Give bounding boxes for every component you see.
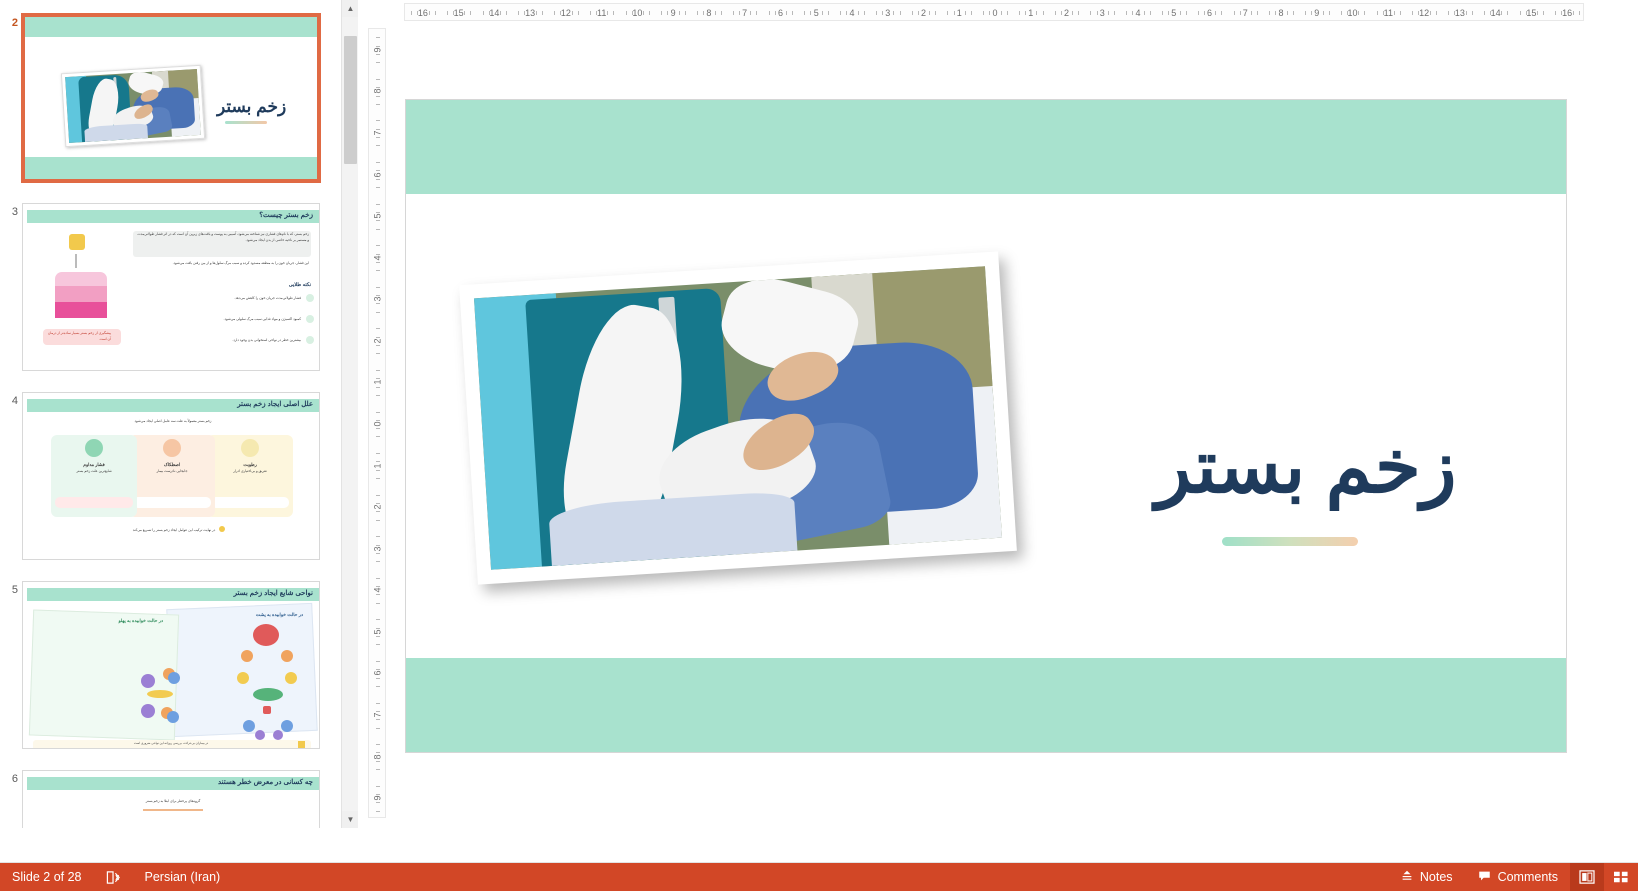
ruler-minor-tick	[1257, 11, 1258, 15]
status-bar: Slide 2 of 28 Persian (Iran)	[0, 863, 1638, 891]
ruler-tick-label: 12	[561, 4, 571, 21]
ruler-minor-tick	[1537, 11, 1538, 15]
ruler-minor-tick	[893, 11, 894, 15]
ruler-minor-tick	[876, 11, 877, 15]
mini-title-text: نواحی شایع ایجاد زخم بستر	[234, 589, 313, 597]
check-icon	[306, 315, 314, 323]
ruler-minor-tick	[989, 11, 990, 15]
ruler-minor-tick	[376, 229, 380, 230]
ruler-minor-tick	[376, 661, 380, 662]
ruler-minor-tick	[542, 11, 543, 15]
ruler-minor-tick	[810, 11, 811, 15]
current-slide-canvas[interactable]: زخم بستر	[406, 100, 1566, 752]
ruler-minor-tick	[792, 11, 793, 15]
ruler-minor-tick	[1400, 11, 1401, 15]
ruler-minor-tick	[578, 11, 579, 15]
ruler-minor-tick	[429, 11, 430, 15]
ruler-minor-tick	[376, 711, 380, 712]
ruler-minor-tick	[376, 129, 380, 130]
ruler-minor-tick	[376, 353, 380, 354]
scroll-up-arrow-icon[interactable]: ▲	[342, 0, 359, 17]
ruler-minor-tick	[376, 511, 380, 512]
mini-title-text: علل اصلی ایجاد زخم بستر	[237, 400, 313, 408]
ruler-tick-label: 1	[1028, 4, 1033, 21]
ruler-minor-tick	[965, 11, 966, 15]
ruler-minor-tick	[376, 728, 380, 729]
ruler-minor-tick	[756, 11, 757, 15]
ruler-minor-tick	[900, 11, 901, 15]
ruler-minor-tick	[1275, 11, 1276, 15]
ruler-minor-tick	[518, 11, 519, 15]
ruler-minor-tick	[864, 11, 865, 15]
ruler-minor-tick	[929, 11, 930, 15]
ruler-minor-tick	[1418, 11, 1419, 15]
ruler-minor-tick	[1090, 11, 1091, 15]
ruler-minor-tick	[721, 11, 722, 15]
thumbnail-number-4: 4	[0, 392, 22, 408]
mini-title-text: زخم بستر چیست؟	[259, 211, 313, 219]
ruler-minor-tick	[500, 11, 501, 15]
ruler-minor-tick	[1132, 11, 1133, 15]
ruler-minor-tick	[376, 578, 380, 579]
ruler-minor-tick	[769, 11, 770, 15]
ruler-minor-tick	[846, 11, 847, 15]
thumbnail-canvas-2[interactable]: زخم بستر	[22, 14, 320, 182]
notes-label: Notes	[1420, 870, 1453, 884]
ruler-minor-tick	[376, 395, 380, 396]
ruler-minor-tick	[1448, 11, 1449, 15]
ruler-minor-tick	[376, 686, 380, 687]
ruler-minor-tick	[1490, 11, 1491, 15]
ruler-minor-tick	[376, 752, 380, 753]
ruler-minor-tick	[1555, 11, 1556, 15]
ruler-tick-label: 5	[1171, 4, 1176, 21]
ruler-minor-tick	[1364, 11, 1365, 15]
notes-icon	[1400, 869, 1414, 886]
ruler-minor-tick	[376, 412, 380, 413]
slide-title-underline	[1222, 537, 1358, 546]
ruler-tick-label: 14	[489, 4, 499, 21]
ruler-minor-tick	[590, 11, 591, 15]
ruler-tick-label: 7	[1243, 4, 1248, 21]
mini-card-icon	[241, 439, 259, 457]
thumbnail-canvas-3[interactable]: زخم بستر چیست؟ زخم بستر، که با نام‌های ف…	[22, 203, 320, 371]
ruler-tick-label: 2	[1064, 4, 1069, 21]
ruler-minor-tick	[649, 11, 650, 15]
ruler-minor-tick	[376, 545, 380, 546]
ruler-minor-tick	[376, 669, 380, 670]
ruler-minor-tick	[376, 769, 380, 770]
ruler-minor-tick	[1323, 11, 1324, 15]
ruler-minor-tick	[1097, 11, 1098, 15]
ruler-minor-tick	[1543, 11, 1544, 15]
mini-title-text: چه کسانی در معرض خطر هستند	[218, 778, 313, 786]
ruler-minor-tick	[470, 11, 471, 15]
mini-band-top	[25, 17, 317, 37]
scroll-down-arrow-icon[interactable]: ▼	[342, 811, 359, 828]
thumbnail-number-3: 3	[0, 203, 22, 219]
ruler-minor-tick	[376, 312, 380, 313]
ruler-minor-tick	[376, 220, 380, 221]
thumbnail-slide-4[interactable]: 4 علل اصلی ایجاد زخم بستر زخم بستر معمول…	[0, 392, 340, 560]
ruler-minor-tick	[376, 553, 380, 554]
ruler-minor-tick	[1579, 11, 1580, 15]
ruler-minor-tick	[1240, 11, 1241, 15]
ruler-minor-tick	[912, 11, 913, 15]
thumbnail-scrollbar[interactable]: ▲ ▼	[341, 0, 358, 828]
ruler-minor-tick	[376, 295, 380, 296]
ruler-minor-tick	[596, 11, 597, 15]
ruler-minor-tick	[524, 11, 525, 15]
ruler-minor-tick	[667, 11, 668, 15]
ruler-tick-label: 1	[957, 4, 962, 21]
ruler-minor-tick	[1180, 11, 1181, 15]
ruler-tick-label: 2	[921, 4, 926, 21]
ruler-minor-tick	[804, 11, 805, 15]
ruler-minor-tick	[1168, 11, 1169, 15]
ruler-tick-label: 5	[814, 4, 819, 21]
ruler-minor-tick	[376, 478, 380, 479]
ruler-minor-tick	[376, 62, 380, 63]
ruler-minor-tick	[453, 11, 454, 15]
ruler-minor-tick	[560, 11, 561, 15]
ruler-tick-label: 14	[1491, 4, 1501, 21]
ruler-minor-tick	[376, 270, 380, 271]
ruler-minor-tick	[715, 11, 716, 15]
ruler-tick-label: 11	[1384, 4, 1393, 21]
ruler-minor-tick	[376, 619, 380, 620]
ruler-minor-tick	[1198, 11, 1199, 15]
photo-artwork	[474, 266, 1002, 570]
ruler-minor-tick	[1001, 11, 1002, 15]
ruler-tick-label: 12	[1419, 4, 1429, 21]
ruler-minor-tick	[376, 170, 380, 171]
ruler-minor-tick	[483, 11, 484, 15]
ruler-minor-tick	[1072, 11, 1073, 15]
slide-sorter-view-button[interactable]	[1604, 863, 1638, 891]
ruler-minor-tick	[376, 328, 380, 329]
ruler-tick-label: 8	[706, 4, 711, 21]
ruler-minor-tick	[607, 11, 608, 15]
ruler-minor-tick	[376, 212, 380, 213]
ruler-minor-tick	[536, 11, 537, 15]
ruler-minor-tick	[376, 179, 380, 180]
ruler-minor-tick	[376, 794, 380, 795]
thumbnail-number-5: 5	[0, 581, 22, 597]
ruler-minor-tick	[632, 11, 633, 15]
accessibility-checker-icon[interactable]	[94, 863, 133, 891]
star-icon	[219, 526, 225, 532]
ruler-minor-tick	[971, 11, 972, 15]
ruler-tick-label: 3	[885, 4, 890, 21]
ruler-minor-tick	[828, 11, 829, 15]
check-icon	[306, 294, 314, 302]
warning-icon	[298, 741, 305, 748]
ruler-tick-label: 15	[454, 4, 464, 21]
ruler-minor-tick	[858, 11, 859, 15]
ruler-minor-tick	[376, 495, 380, 496]
ruler-minor-tick	[376, 204, 380, 205]
ruler-minor-tick	[1234, 11, 1235, 15]
ruler-minor-tick	[822, 11, 823, 15]
ruler-tick-label: 8	[1279, 4, 1284, 21]
ruler-minor-tick	[643, 11, 644, 15]
ruler-minor-tick	[376, 628, 380, 629]
ruler-minor-tick	[1287, 11, 1288, 15]
ruler-tick-label: 0	[992, 4, 997, 21]
ruler-minor-tick	[983, 11, 984, 15]
ruler-minor-tick	[1293, 11, 1294, 15]
mini-card-icon	[163, 439, 181, 457]
ruler-minor-tick	[411, 11, 412, 15]
scrollbar-thumb[interactable]	[344, 36, 357, 164]
powerpoint-window: 2	[0, 0, 1638, 891]
ruler-minor-tick	[840, 11, 841, 15]
ruler-minor-tick	[918, 11, 919, 15]
ruler-minor-tick	[506, 11, 507, 15]
mini-section-label: نکته طلایی	[289, 282, 311, 288]
ruler-minor-tick	[376, 37, 380, 38]
ruler-minor-tick	[376, 137, 380, 138]
ruler-minor-tick	[376, 761, 380, 762]
ruler-minor-tick	[1221, 11, 1222, 15]
ruler-minor-tick	[1019, 11, 1020, 15]
ruler-tick-label: 4	[1136, 4, 1141, 21]
ruler-minor-tick	[1501, 11, 1502, 15]
ruler-minor-tick	[376, 520, 380, 521]
mini-slide-2: زخم بستر	[25, 17, 317, 179]
ruler-minor-tick	[376, 703, 380, 704]
thumbnail-slide-5[interactable]: 5 نواحی شایع ایجاد زخم بستر در حالت خواب…	[0, 581, 340, 749]
ruler-minor-tick	[376, 428, 380, 429]
ruler-minor-tick	[882, 11, 883, 15]
ruler-minor-tick	[1430, 11, 1431, 15]
ruler-minor-tick	[750, 11, 751, 15]
ruler-minor-tick	[376, 420, 380, 421]
thumbnail-canvas-5[interactable]: نواحی شایع ایجاد زخم بستر در حالت خوابید…	[22, 581, 320, 749]
mini-photo	[61, 65, 205, 147]
ruler-minor-tick	[376, 453, 380, 454]
ruler-minor-tick	[1108, 11, 1109, 15]
ruler-minor-tick	[376, 370, 380, 371]
ruler-minor-tick	[739, 11, 740, 15]
comment-icon	[1477, 869, 1492, 886]
ruler-minor-tick	[376, 586, 380, 587]
ruler-minor-tick	[1055, 11, 1056, 15]
ruler-minor-tick	[1507, 11, 1508, 15]
ruler-minor-tick	[1204, 11, 1205, 15]
slide-thumbnail-panel[interactable]: 2	[0, 0, 340, 828]
ruler-minor-tick	[376, 54, 380, 55]
thumbnail-number-6: 6	[0, 770, 22, 786]
mini-card-icon	[85, 439, 103, 457]
mini-band-bottom	[25, 157, 317, 179]
alert-icon	[69, 234, 85, 250]
ruler-minor-tick	[1150, 11, 1151, 15]
notes-button[interactable]: Notes	[1388, 863, 1465, 891]
ruler-minor-tick	[376, 104, 380, 105]
ruler-minor-tick	[685, 11, 686, 15]
ruler-minor-tick	[1078, 11, 1079, 15]
ruler-minor-tick	[489, 11, 490, 15]
ruler-minor-tick	[1329, 11, 1330, 15]
ruler-minor-tick	[1341, 11, 1342, 15]
ruler-minor-tick	[1573, 11, 1574, 15]
ruler-minor-tick	[1251, 11, 1252, 15]
ruler-minor-tick	[376, 644, 380, 645]
ruler-minor-tick	[626, 11, 627, 15]
slide-band-bottom	[406, 658, 1566, 752]
thumbnail-slide-2[interactable]: 2	[0, 14, 340, 182]
ruler-minor-tick	[376, 120, 380, 121]
ruler-tick-label: 4	[849, 4, 854, 21]
ruler-minor-tick	[376, 378, 380, 379]
ruler-minor-tick	[376, 503, 380, 504]
ruler-minor-tick	[376, 79, 380, 80]
thumbnail-number-2: 2	[0, 14, 22, 30]
ruler-minor-tick	[1126, 11, 1127, 15]
ruler-minor-tick	[786, 11, 787, 15]
ruler-minor-tick	[1269, 11, 1270, 15]
ruler-minor-tick	[572, 11, 573, 15]
ruler-tick-label: 7	[742, 4, 747, 21]
ruler-minor-tick	[376, 811, 380, 812]
ruler-tick-label: 6	[778, 4, 783, 21]
slide-photo[interactable]	[459, 251, 1017, 584]
ruler-minor-tick	[376, 678, 380, 679]
ruler-minor-tick	[376, 245, 380, 246]
ruler-minor-tick	[1358, 11, 1359, 15]
slide-title-text[interactable]: زخم بستر	[1106, 430, 1506, 504]
ruler-minor-tick	[703, 11, 704, 15]
thumbnail-canvas-4[interactable]: علل اصلی ایجاد زخم بستر زخم بستر معمولاً…	[22, 392, 320, 560]
ruler-minor-tick	[1436, 11, 1437, 15]
ruler-minor-tick	[1025, 11, 1026, 15]
ruler-minor-tick	[1561, 11, 1562, 15]
ruler-minor-tick	[1144, 11, 1145, 15]
ruler-minor-tick	[376, 594, 380, 595]
ruler-minor-tick	[1311, 11, 1312, 15]
ruler-minor-tick	[376, 461, 380, 462]
thumbnail-canvas-6[interactable]: چه کسانی در معرض خطر هستند گروه‌های پرخط…	[22, 770, 320, 828]
horizontal-ruler[interactable]: 1615141312111098765432101234567891011121…	[404, 3, 1584, 21]
ruler-minor-tick	[947, 11, 948, 15]
ruler-tick-label: 15	[1526, 4, 1536, 21]
ruler-minor-tick	[376, 87, 380, 88]
ruler-tick-label: 13	[1455, 4, 1465, 21]
ruler-minor-tick	[376, 744, 380, 745]
ruler-tick-label: 9	[1314, 4, 1319, 21]
ruler-minor-tick	[1061, 11, 1062, 15]
ruler-minor-tick	[554, 11, 555, 15]
ruler-minor-tick	[661, 11, 662, 15]
ruler-tick-label: 16	[1562, 4, 1572, 21]
ruler-minor-tick	[376, 603, 380, 604]
ruler-minor-tick	[435, 11, 436, 15]
check-icon	[306, 336, 314, 344]
ruler-minor-tick	[1383, 11, 1384, 15]
mini-panel-left	[29, 609, 179, 740]
ruler-minor-tick	[1162, 11, 1163, 15]
thumbnail-slide-6[interactable]: 6 چه کسانی در معرض خطر هستند گروه‌های پر…	[0, 770, 340, 828]
ruler-minor-tick	[733, 11, 734, 15]
ruler-minor-tick	[376, 345, 380, 346]
ruler-tick-label: 10	[1348, 4, 1358, 21]
comments-button[interactable]: Comments	[1465, 863, 1570, 891]
ruler-minor-tick	[1043, 11, 1044, 15]
ruler-minor-tick	[376, 187, 380, 188]
ruler-minor-tick	[1215, 11, 1216, 15]
ruler-minor-tick	[1472, 11, 1473, 15]
ruler-minor-tick	[376, 337, 380, 338]
thumbnail-slide-3[interactable]: 3 زخم بستر چیست؟ زخم بستر، که با نام‌های…	[0, 203, 340, 371]
ruler-minor-tick	[1347, 11, 1348, 15]
language-indicator[interactable]: Persian (Iran)	[133, 863, 233, 891]
ruler-minor-tick	[1114, 11, 1115, 15]
ruler-minor-tick	[447, 11, 448, 15]
ruler-minor-tick	[697, 11, 698, 15]
comments-label: Comments	[1498, 870, 1558, 884]
ruler-minor-tick	[1377, 11, 1378, 15]
ruler-minor-tick	[935, 11, 936, 15]
ruler-minor-tick	[376, 96, 380, 97]
ruler-tick-label: 9	[671, 4, 676, 21]
ruler-minor-tick	[417, 11, 418, 15]
ruler-minor-tick	[376, 536, 380, 537]
slide-editing-area: 1615141312111098765432101234567891011121…	[358, 0, 1638, 828]
ruler-minor-tick	[1520, 11, 1521, 15]
ruler-tick-label: 6	[1207, 4, 1212, 21]
ruler-tick-label: 16	[418, 4, 428, 21]
ruler-minor-tick	[376, 254, 380, 255]
ruler-minor-tick	[376, 162, 380, 163]
ruler-minor-tick	[1036, 11, 1037, 15]
ruler-minor-tick	[464, 11, 465, 15]
ruler-minor-tick	[376, 561, 380, 562]
ruler-minor-tick	[376, 287, 380, 288]
slide-band-top	[406, 100, 1566, 194]
ruler-minor-tick	[376, 262, 380, 263]
ruler-tick-label: 11	[597, 4, 606, 21]
ruler-minor-tick	[1412, 11, 1413, 15]
mini-panel-right	[166, 603, 317, 737]
mini-title-text: زخم بستر	[217, 97, 286, 117]
ruler-tick-label: 10	[632, 4, 642, 21]
ruler-minor-tick	[1305, 11, 1306, 15]
ruler-tick-label: 3	[1100, 4, 1105, 21]
ruler-minor-tick	[1007, 11, 1008, 15]
ruler-minor-tick	[1454, 11, 1455, 15]
ruler-minor-tick	[376, 786, 380, 787]
normal-view-button[interactable]	[1570, 863, 1604, 891]
ruler-minor-tick	[376, 719, 380, 720]
ruler-minor-tick	[1484, 11, 1485, 15]
ruler-minor-tick	[376, 802, 380, 803]
ruler-minor-tick	[376, 470, 380, 471]
ruler-minor-tick	[1394, 11, 1395, 15]
vertical-ruler[interactable]: 9876543210123456789	[368, 28, 386, 818]
arrow-shaft	[75, 254, 77, 268]
ruler-minor-tick	[775, 11, 776, 15]
ruler-minor-tick	[679, 11, 680, 15]
ruler-minor-tick	[376, 436, 380, 437]
ruler-minor-tick	[376, 46, 380, 47]
ruler-minor-tick	[613, 11, 614, 15]
ruler-minor-tick	[954, 11, 955, 15]
slide-counter[interactable]: Slide 2 of 28	[0, 863, 94, 891]
ruler-minor-tick	[376, 387, 380, 388]
ruler-minor-tick	[1466, 11, 1467, 15]
